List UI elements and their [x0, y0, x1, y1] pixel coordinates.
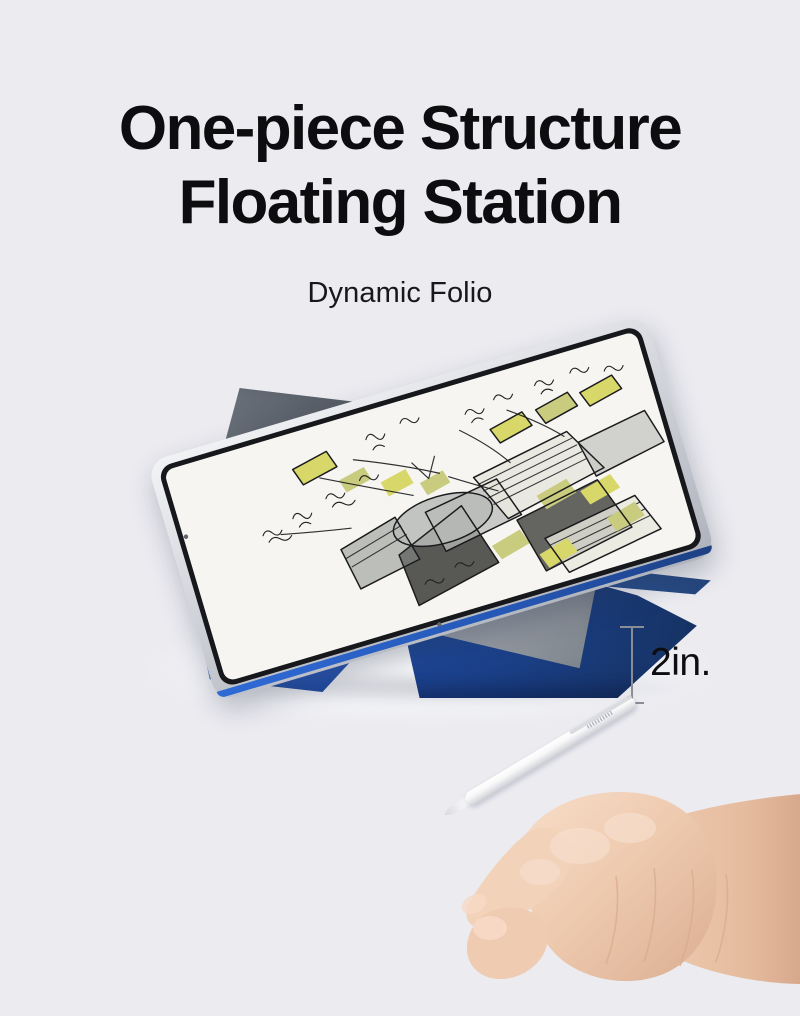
product-subtitle: Dynamic Folio	[0, 275, 800, 311]
marketing-image: One-piece Structure Floating Station Dyn…	[0, 0, 800, 801]
headline-line-2: Floating Station	[0, 166, 800, 240]
dimension-label: 2in.	[650, 633, 711, 693]
headline-line-1: One-piece Structure	[0, 92, 800, 166]
page-title: One-piece Structure Floating Station	[0, 92, 800, 240]
